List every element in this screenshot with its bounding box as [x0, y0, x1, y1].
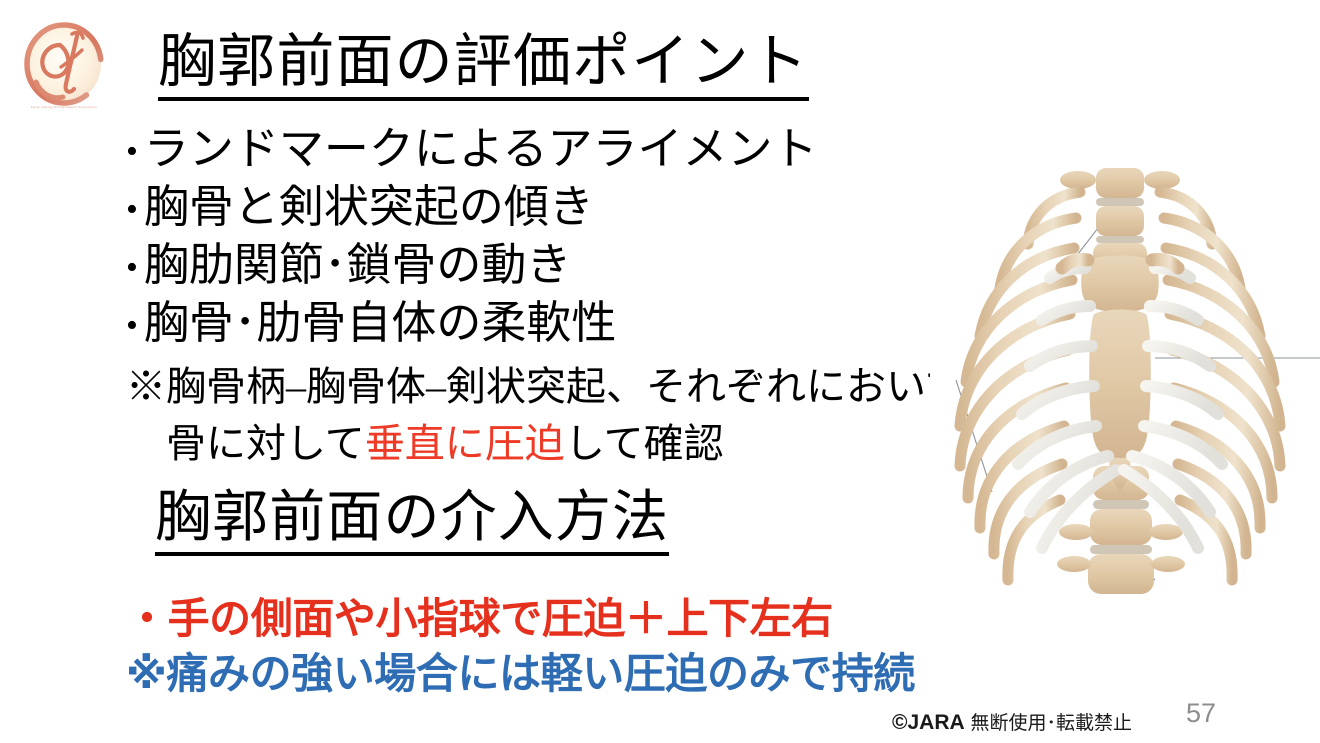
list-item-label: 胸肋関節･鎖骨の動き	[144, 236, 572, 294]
copyright-notice: ©JARA 無断使用･転載禁止	[892, 708, 1132, 735]
list-item-label: ランドマークによるアライメント	[144, 120, 818, 178]
slide-canvas: Japan Allergy Rehabilitation Association…	[0, 0, 1320, 743]
page-number: 57	[1186, 698, 1216, 729]
note-line-secondary: 骨に対して垂直に圧迫して確認	[126, 415, 956, 472]
bullet-marker-icon: •	[126, 193, 138, 227]
note-suffix: して確認	[565, 421, 724, 466]
intervention-method-line: ・手の側面や小指球で圧迫＋上下左右	[126, 598, 833, 640]
heading-1-text: 胸郭前面の評価ポイント	[158, 33, 809, 101]
copyright-mark: ©JARA	[892, 711, 965, 734]
bullet-marker-icon: •	[126, 135, 138, 169]
jara-logo: Japan Allergy Rehabilitation Association	[14, 12, 114, 114]
page-title-primary: 胸郭前面の評価ポイント	[158, 33, 809, 101]
assessment-point-list: • ランドマークによるアライメント • 胸骨と剣状突起の傾き • 胸肋関節･鎖骨…	[126, 120, 956, 352]
bullet-marker-icon: •	[126, 309, 138, 343]
copyright-note: 無断使用･転載禁止	[971, 713, 1133, 734]
note-line-primary: ※胸骨柄–胸骨体–剣状突起、それぞれにおいて	[126, 358, 956, 415]
assessment-note-block: ※胸骨柄–胸骨体–剣状突起、それぞれにおいて 骨に対して垂直に圧迫して確認	[126, 358, 956, 472]
list-item: • ランドマークによるアライメント	[126, 120, 956, 178]
list-item-label: 胸骨と剣状突起の傾き	[144, 178, 594, 236]
svg-text:Japan Allergy Rehabilitation A: Japan Allergy Rehabilitation Association	[31, 105, 98, 109]
note-highlight: 垂直に圧迫	[365, 421, 565, 466]
page-title-secondary: 胸郭前面の介入方法	[155, 490, 669, 556]
bullet-marker-icon: •	[126, 251, 138, 285]
list-item-label: 胸骨･肋骨自体の柔軟性	[144, 294, 617, 352]
list-item: • 胸骨と剣状突起の傾き	[126, 178, 956, 236]
list-item: • 胸肋関節･鎖骨の動き	[126, 236, 956, 294]
anterior-rib-cage-illustration	[930, 140, 1320, 610]
note-prefix: 骨に対して	[166, 421, 365, 466]
heading-2-text: 胸郭前面の介入方法	[155, 490, 669, 556]
intervention-caution-line: ※痛みの強い場合には軽い圧迫のみで持続	[126, 653, 915, 695]
list-item: • 胸骨･肋骨自体の柔軟性	[126, 294, 956, 352]
